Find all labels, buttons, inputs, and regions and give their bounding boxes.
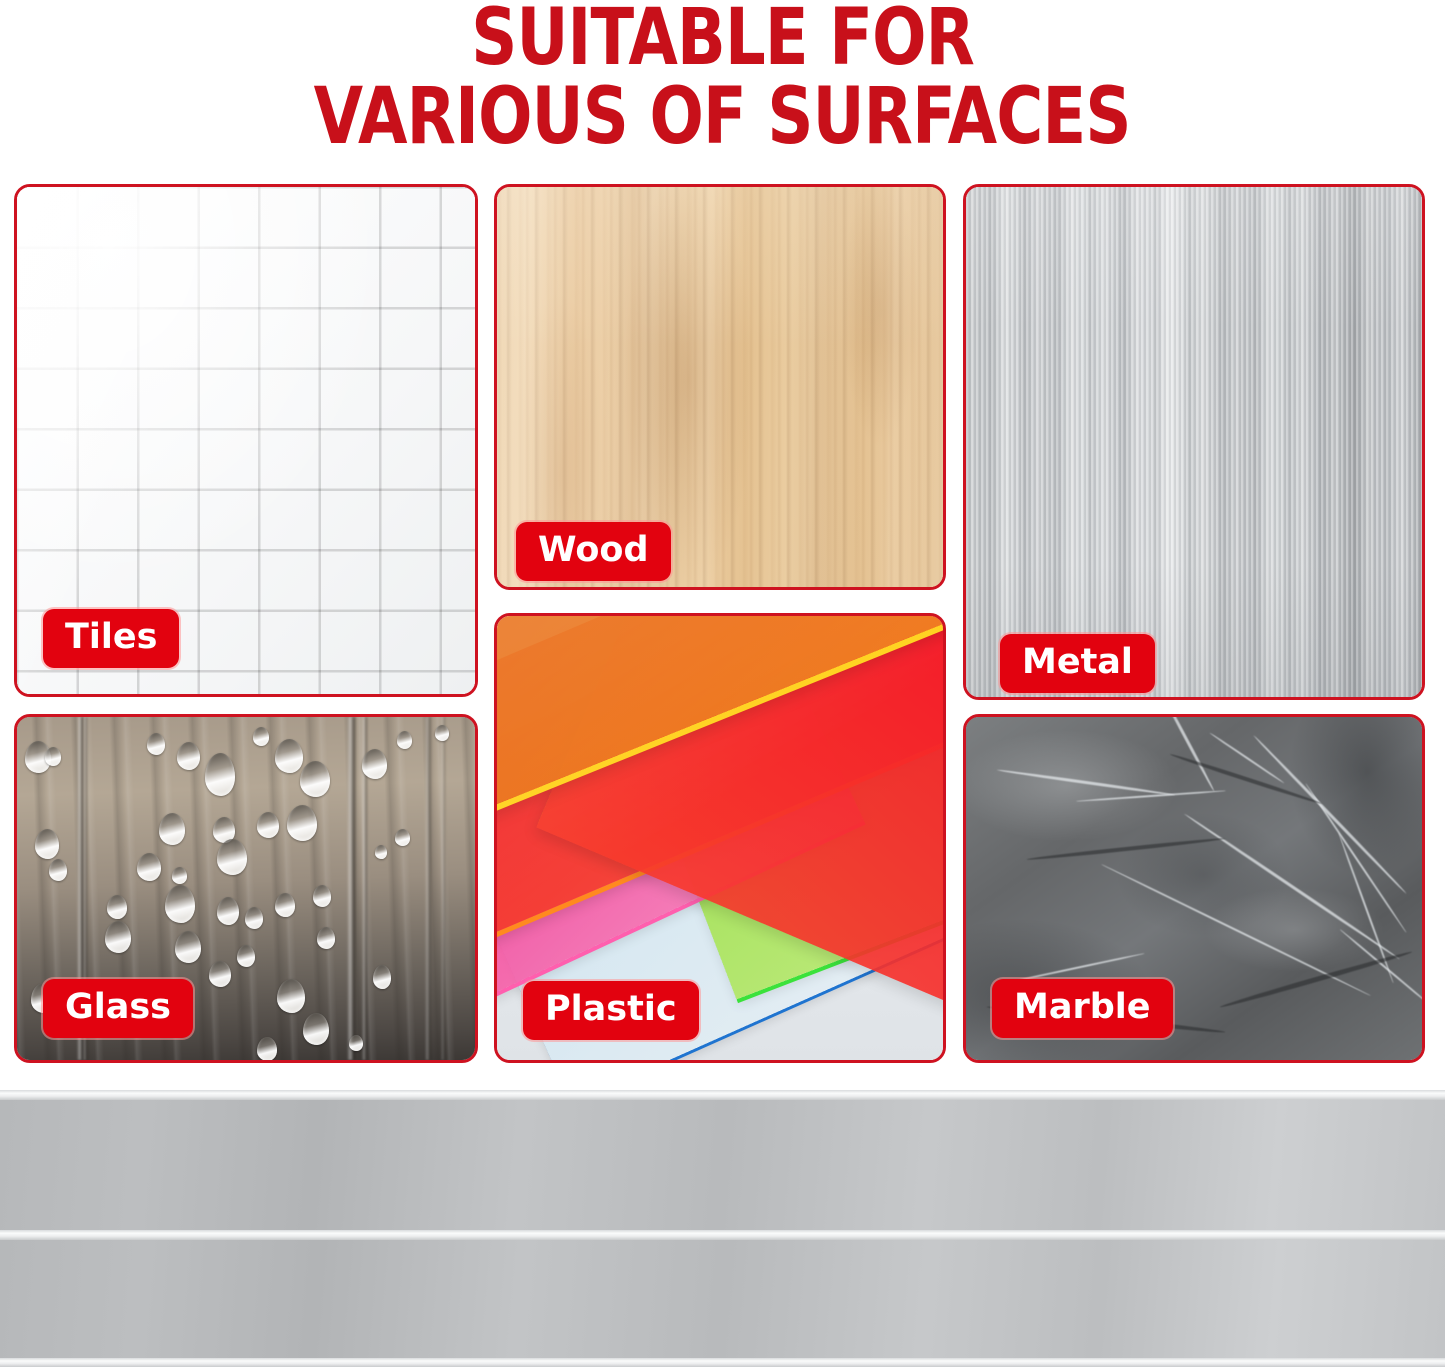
surface-card-plastic: Plastic — [494, 613, 946, 1063]
surface-card-marble: Marble — [963, 714, 1425, 1063]
headline-block: SUITABLE FOR VARIOUS OF SURFACES — [0, 0, 1445, 172]
surface-card-glass: Glass — [14, 714, 478, 1063]
headline-line-2: VARIOUS OF SURFACES — [314, 81, 1131, 154]
surface-label-marble: Marble — [992, 979, 1173, 1038]
bottom-shelf-band-lower — [0, 1240, 1445, 1358]
metal-texture — [966, 187, 1422, 697]
bottom-shelf-band-upper — [0, 1100, 1445, 1230]
surface-label-wood: Wood — [516, 522, 671, 581]
surface-card-tiles: Tiles — [14, 184, 478, 697]
bottom-shelf-ridge-middle — [0, 1230, 1445, 1240]
product-infographic: SUITABLE FOR VARIOUS OF SURFACES Tiles W… — [0, 0, 1445, 1367]
bottom-shelf-ridge-top — [0, 1090, 1445, 1100]
bottom-shelf-ridge-bottom — [0, 1358, 1445, 1367]
surface-card-metal — [963, 184, 1425, 700]
surface-label-plastic: Plastic — [523, 981, 699, 1040]
surface-label-tiles: Tiles — [43, 609, 179, 668]
surface-label-glass: Glass — [43, 979, 193, 1038]
headline-line-1: SUITABLE FOR — [471, 2, 974, 75]
surface-label-metal: Metal — [1000, 634, 1155, 693]
